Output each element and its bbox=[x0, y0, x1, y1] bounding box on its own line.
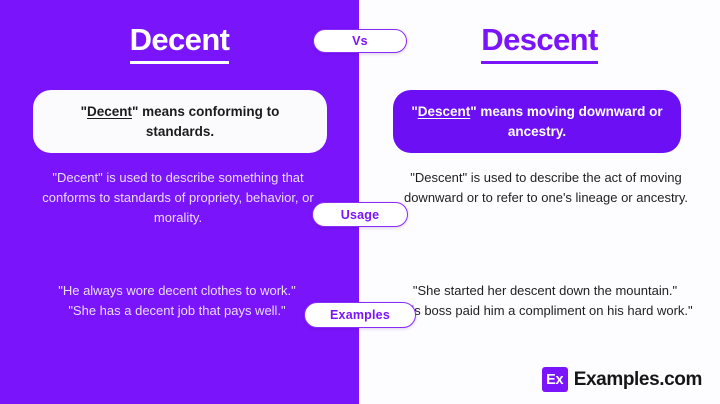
right-title-text: Descent bbox=[481, 22, 597, 64]
logo-mark-icon: Ex bbox=[542, 367, 568, 392]
left-title-text: Decent bbox=[130, 22, 230, 64]
site-logo: Ex Examples.com bbox=[542, 367, 702, 392]
right-definition-card: "Descent" means moving downward or ances… bbox=[393, 90, 681, 153]
divider-badge-usage-label: Usage bbox=[341, 208, 380, 222]
left-examples-text: "He always wore decent clothes to work."… bbox=[22, 281, 332, 321]
right-definition-rest: " means moving downward or ancestry. bbox=[470, 104, 662, 139]
right-usage-text: "Descent" is used to describe the act of… bbox=[400, 168, 692, 208]
right-title: Descent bbox=[359, 22, 720, 64]
divider-badge-examples-label: Examples bbox=[330, 308, 390, 322]
left-definition-keyword: Decent bbox=[87, 104, 132, 119]
right-examples-text: "She started her descent down the mounta… bbox=[392, 281, 698, 321]
divider-badge-examples: Examples bbox=[304, 302, 416, 328]
left-column: Decent "Decent" means conforming to stan… bbox=[0, 0, 359, 404]
left-definition-card: "Decent" means conforming to standards. bbox=[33, 90, 327, 153]
right-definition-keyword: Descent bbox=[418, 104, 471, 119]
left-definition-rest: " means conforming to standards. bbox=[132, 104, 279, 139]
left-title: Decent bbox=[0, 22, 359, 64]
comparison-infographic: Decent "Decent" means conforming to stan… bbox=[0, 0, 720, 404]
divider-badge-usage: Usage bbox=[312, 202, 408, 227]
divider-badge-vs: Vs bbox=[313, 29, 407, 53]
logo-wordmark: Examples.com bbox=[574, 369, 702, 391]
left-usage-text: "Decent" is used to describe something t… bbox=[28, 168, 328, 228]
divider-badge-vs-label: Vs bbox=[352, 34, 368, 48]
